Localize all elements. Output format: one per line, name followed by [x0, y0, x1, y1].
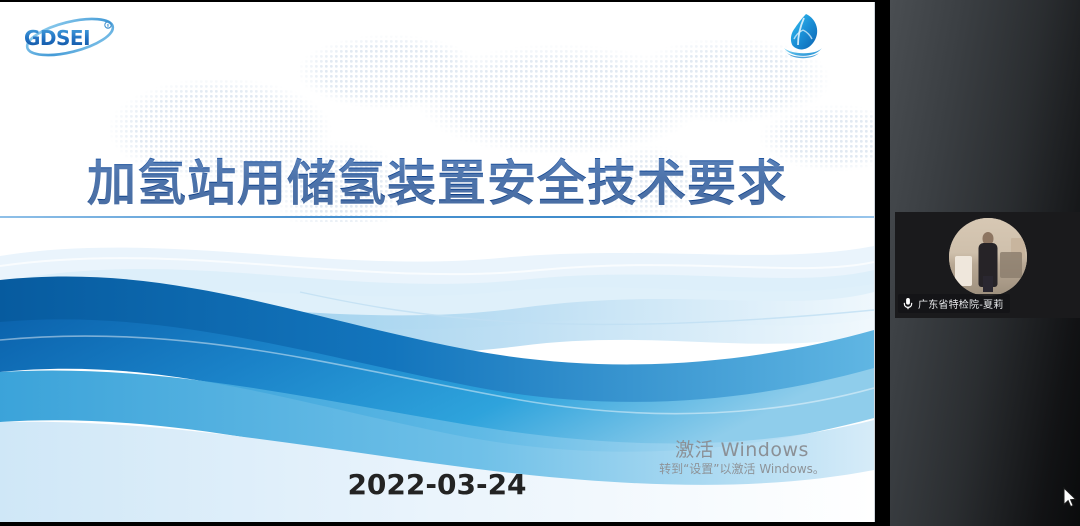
presentation-slide[interactable]: GDSEI R: [0, 2, 875, 522]
avatar-person-legs: [983, 276, 993, 292]
avatar-decor-left: [955, 256, 972, 286]
gdsei-logo: GDSEI R: [14, 16, 134, 58]
svg-text:GDSEI: GDSEI: [24, 26, 90, 50]
shared-screen-area[interactable]: GDSEI R: [0, 0, 878, 526]
participant-video-tile[interactable]: 广东省特检院-夏莉: [895, 212, 1080, 318]
participant-rail[interactable]: 广东省特检院-夏莉: [890, 0, 1080, 526]
screen-share-window: GDSEI R: [0, 0, 1080, 526]
participant-name: 广东省特检院-夏莉: [918, 296, 1003, 311]
slide-date: 2022-03-24: [0, 468, 874, 501]
microphone-icon[interactable]: [902, 297, 914, 310]
slide-title: 加氢站用储氢装置安全技术要求: [0, 144, 874, 215]
svg-text:R: R: [107, 24, 110, 29]
avatar: [949, 218, 1027, 296]
participant-name-chip: 广东省特检院-夏莉: [898, 294, 1010, 313]
leaf-emblem-icon: [774, 8, 832, 66]
avatar-decor-right: [1000, 252, 1022, 278]
stage-gutter: [878, 0, 890, 526]
title-divider: [0, 216, 874, 218]
